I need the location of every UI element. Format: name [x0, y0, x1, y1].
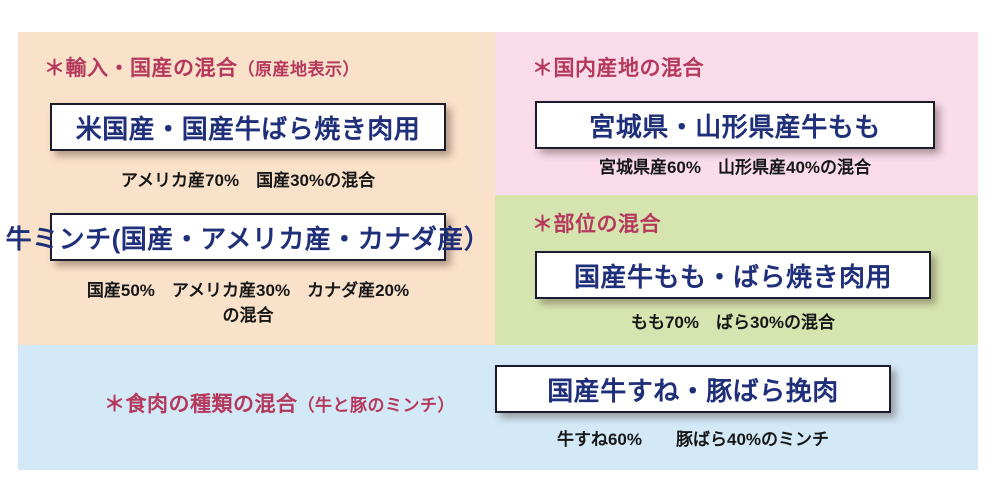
product-label-sune-butabara: 国産牛すね・豚ばら挽肉 [547, 371, 839, 408]
product-label-beef-mince: 牛ミンチ(国産・アメリカ産・カナダ産） [6, 219, 491, 256]
product-box-sune-butabara: 国産牛すね・豚ばら挽肉 [495, 365, 891, 413]
heading-kind-sub: （牛と豚のミンチ） [298, 396, 456, 415]
heading-import-main: ＊輸入・国産の混合 [44, 57, 238, 80]
product-label-momo-bara: 国産牛もも・ばら焼き肉用 [574, 257, 892, 294]
heading-kind-main: ＊食肉の種類の混合 [104, 393, 298, 416]
infographic-canvas: ＊輸入・国産の混合（原産地表示） ＊国内産地の混合 ＊部位の混合 ＊食肉の種類の… [0, 0, 1000, 499]
product-box-beef-mince: 牛ミンチ(国産・アメリカ産・カナダ産） [50, 213, 446, 261]
heading-cut-part-mix: ＊部位の混合 [532, 208, 661, 238]
heading-part-main: ＊部位の混合 [532, 213, 661, 236]
product-box-miyagi-yamagata: 宮城県・山形県産牛もも [535, 101, 935, 149]
heading-domestic-main: ＊国内産地の混合 [532, 57, 704, 80]
product-label-miyagi-yamagata: 宮城県・山形県産牛もも [589, 107, 881, 144]
caption-beef-bara: アメリカ産70% 国産30%の混合 [50, 168, 446, 193]
heading-meat-kind-mix: ＊食肉の種類の混合（牛と豚のミンチ） [104, 388, 455, 418]
caption-sune-butabara: 牛すね60% 豚ばら40%のミンチ [495, 427, 891, 452]
product-box-momo-bara: 国産牛もも・ばら焼き肉用 [535, 251, 931, 299]
caption-miyagi-yamagata: 宮城県産60% 山形県産40%の混合 [535, 155, 935, 180]
product-label-beef-bara: 米国産・国産牛ばら焼き肉用 [76, 109, 421, 146]
caption-beef-mince: 国産50% アメリカ産30% カナダ産20% の混合 [40, 278, 456, 328]
heading-import-domestic-mix: ＊輸入・国産の混合（原産地表示） [44, 52, 360, 82]
product-box-beef-bara: 米国産・国産牛ばら焼き肉用 [50, 103, 446, 151]
caption-momo-bara: もも70% ばら30%の混合 [535, 310, 931, 335]
heading-import-sub: （原産地表示） [238, 60, 361, 79]
heading-domestic-origin-mix: ＊国内産地の混合 [532, 52, 704, 82]
